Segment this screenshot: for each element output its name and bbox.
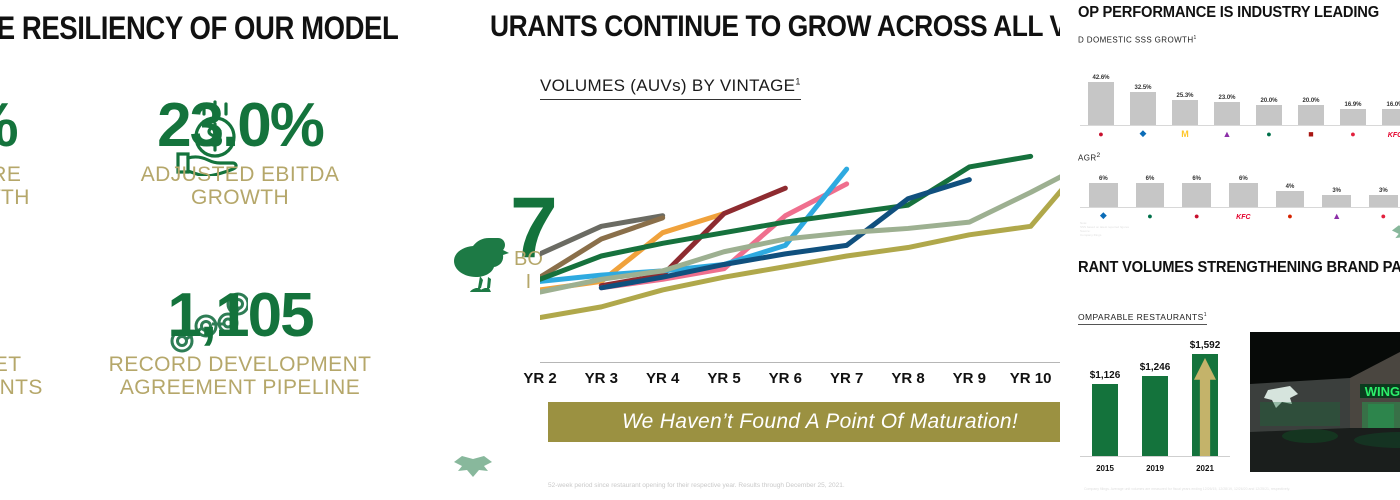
wingstop-storefront-photo: WINGSTOP: [1250, 332, 1400, 472]
bar-krispy-kreme: [1182, 183, 1211, 209]
page-title: OP PERFORMANCE IS INDUSTRY LEADING: [1078, 4, 1400, 22]
bar-value-label: 6%: [1099, 176, 1108, 182]
chart2-label: AGR2: [1078, 152, 1101, 163]
x-tick-label: YR 7: [830, 370, 863, 387]
bar-starbucks: [1256, 105, 1282, 126]
bar-value-label: 16.0%: [1386, 102, 1400, 108]
chart2-label-text: AGR: [1078, 154, 1097, 163]
bar-value-label: 4%: [1286, 184, 1295, 190]
bar-kfc: [1382, 109, 1400, 126]
stat-label: RECORD DEVELOPMENT AGREEMENT PIPELINE: [70, 353, 410, 399]
x-tick-label: YR 4: [646, 370, 679, 387]
panel-center-auv-by-vintage: URANTS CONTINUE TO GROW ACROSS ALL V VOL…: [500, 0, 1100, 500]
brand-logo-krispy-kreme-icon: ●: [1098, 129, 1103, 139]
chart-subtitle-text: VOLUMES (AUVs) BY VINTAGE: [540, 76, 795, 95]
chart3-label-text: OMPARABLE RESTAURANTS: [1078, 312, 1204, 322]
bar-2019: [1142, 376, 1168, 457]
bar-value-label: 3%: [1379, 188, 1388, 194]
sss-growth-bar-chart: 42.6%●32.5%◆25.3%M23.0%▲20.0%●20.0%■16.9…: [1080, 52, 1400, 144]
wingstop-logo-icon: [1390, 222, 1400, 244]
brand-logo-wendys-icon: ●: [1350, 129, 1355, 139]
chart1-label-text: D DOMESTIC SSS GROWTH: [1078, 36, 1194, 45]
footnote-marker: 1: [795, 76, 800, 86]
stat-development-pipeline: 1,105 RECORD DEVELOPMENT AGREEMENT PIPEL…: [70, 285, 410, 399]
footnote-marker: 2: [1097, 152, 1101, 159]
bar-chipotle: [1298, 105, 1324, 126]
brand-logo-taco-bell-icon: ▲: [1223, 129, 1232, 139]
chart3-label: OMPARABLE RESTAURANTS1: [1078, 312, 1207, 325]
bar-value-label: 20.0%: [1260, 98, 1277, 104]
auv-comparable-restaurants-bar-chart: $1,1262015$1,2462019$1,5922021: [1080, 335, 1230, 475]
brand-logo-wendys-icon: ●: [1381, 211, 1386, 221]
stat-adjusted-ebitda: 23.0% ADJUSTED EBITDA GROWTH: [70, 95, 410, 209]
slide-deck-screenshot: WCASED THE RESILIENCY OF OUR MODEL 8.0% …: [0, 0, 1400, 500]
bar-category-label: 2015: [1096, 464, 1114, 473]
bar-value-label: 20.0%: [1302, 98, 1319, 104]
bar-value-label: 23.0%: [1218, 95, 1235, 101]
footnote-marker: 1: [1194, 35, 1197, 41]
x-tick-label: YR 5: [707, 370, 740, 387]
brand-logo-starbucks-icon: ●: [1147, 211, 1152, 221]
baseline-axis: [1080, 207, 1400, 208]
brand-logo-chipotle-icon: ■: [1308, 129, 1313, 139]
page-title: WCASED THE RESILIENCY OF OUR MODEL: [0, 10, 436, 47]
bar-category-label: 2021: [1196, 464, 1214, 473]
svg-text:WINGSTOP: WINGSTOP: [1365, 384, 1400, 399]
footnote: 52-week period since restaurant opening …: [548, 482, 845, 489]
bar-value-label: 6%: [1146, 176, 1155, 182]
bar-value-label: $1,246: [1140, 362, 1171, 373]
footnote: Company filings. Average unit volumes ar…: [1084, 487, 1290, 491]
baseline-axis: [1080, 456, 1230, 457]
storefront-night-image: WINGSTOP: [1250, 332, 1400, 472]
x-tick-label: YR 6: [769, 370, 802, 387]
stat-value: 1,105: [70, 285, 410, 347]
bar-burger-king: [1276, 191, 1305, 208]
bar-category-label: 2019: [1146, 464, 1164, 473]
x-tick-label: YR 2: [523, 370, 556, 387]
baseline-axis: [1080, 125, 1400, 126]
x-tick-label: YR 9: [953, 370, 986, 387]
bar-2015: [1092, 384, 1118, 457]
stat-value: 23.0%: [70, 95, 410, 157]
wingstop-logo-icon: [452, 452, 494, 478]
x-tick-label: YR 3: [585, 370, 618, 387]
auv-vintage-line-chart: [540, 150, 1092, 362]
footnote-marker: 1: [1204, 312, 1207, 318]
brand-logo-kfc-icon: KFC: [1236, 211, 1250, 221]
banner-maturation: We Haven’t Found A Point Of Maturation!: [548, 402, 1092, 442]
line-chart-svg: [540, 150, 1092, 362]
bar-dominos: [1130, 92, 1156, 126]
banner-text: We Haven’t Found A Point Of Maturation!: [622, 410, 1018, 434]
bar-value-label: 32.5%: [1134, 85, 1151, 91]
bar-wendys: [1340, 109, 1366, 126]
bar-value-label: $1,592: [1190, 340, 1221, 351]
bar-value-label: 25.3%: [1176, 93, 1193, 99]
stat-label: ADJUSTED EBITDA GROWTH: [70, 163, 410, 209]
micro-source-note: Note: SSS based on latest reported figur…: [1080, 221, 1129, 237]
brand-logo-mcdonalds-icon: M: [1181, 129, 1189, 139]
bar-kfc: [1229, 183, 1258, 209]
brand-logo-dominos-icon: ◆: [1140, 128, 1147, 139]
x-tick-label: YR 8: [891, 370, 924, 387]
brand-logo-burger-king-icon: ●: [1287, 211, 1292, 221]
chart1-label: D DOMESTIC SSS GROWTH1: [1078, 35, 1197, 45]
chicken-stat-label: BO I: [514, 248, 543, 294]
bar-value-label: 6%: [1192, 176, 1201, 182]
unit-growth-cagr-bar-chart: 6%◆6%●6%●6%KFC4%●3%▲3%●2%■2%◆: [1080, 166, 1400, 226]
brand-logo-starbucks-icon: ●: [1266, 129, 1271, 139]
bar-value-label: 3%: [1332, 188, 1341, 194]
growth-arrow-icon: [1194, 358, 1216, 457]
bar-dominos: [1089, 183, 1118, 209]
brand-logo-taco-bell-icon: ▲: [1332, 211, 1341, 221]
brand-logo-dominos-icon: ◆: [1100, 210, 1107, 221]
bar-mcdonalds: [1172, 100, 1198, 126]
bar-value-label: 6%: [1239, 176, 1248, 182]
x-axis-tick-labels: YR 2YR 3YR 4YR 5YR 6YR 7YR 8YR 9YR 10YR …: [540, 362, 1092, 396]
bar-value-label: $1,126: [1090, 370, 1121, 381]
bar-value-label: 16.9%: [1344, 102, 1361, 108]
brand-logo-krispy-kreme-icon: ●: [1194, 211, 1199, 221]
bar-taco-bell: [1214, 102, 1240, 126]
page-title-secondary: RANT VOLUMES STRENGTHENING BRAND PARTNER…: [1078, 258, 1400, 278]
bar-value-label: 42.6%: [1092, 75, 1109, 81]
panel-right-industry-leading: OP PERFORMANCE IS INDUSTRY LEADING D DOM…: [1060, 0, 1400, 500]
bar-krispy-kreme: [1088, 82, 1114, 126]
bar-starbucks: [1136, 183, 1165, 209]
page-title: URANTS CONTINUE TO GROW ACROSS ALL V: [490, 10, 1053, 44]
chart-subtitle: VOLUMES (AUVs) BY VINTAGE1: [540, 76, 801, 100]
x-tick-label: YR 10: [1010, 370, 1052, 387]
brand-logo-kfc-icon: KFC: [1388, 129, 1400, 139]
